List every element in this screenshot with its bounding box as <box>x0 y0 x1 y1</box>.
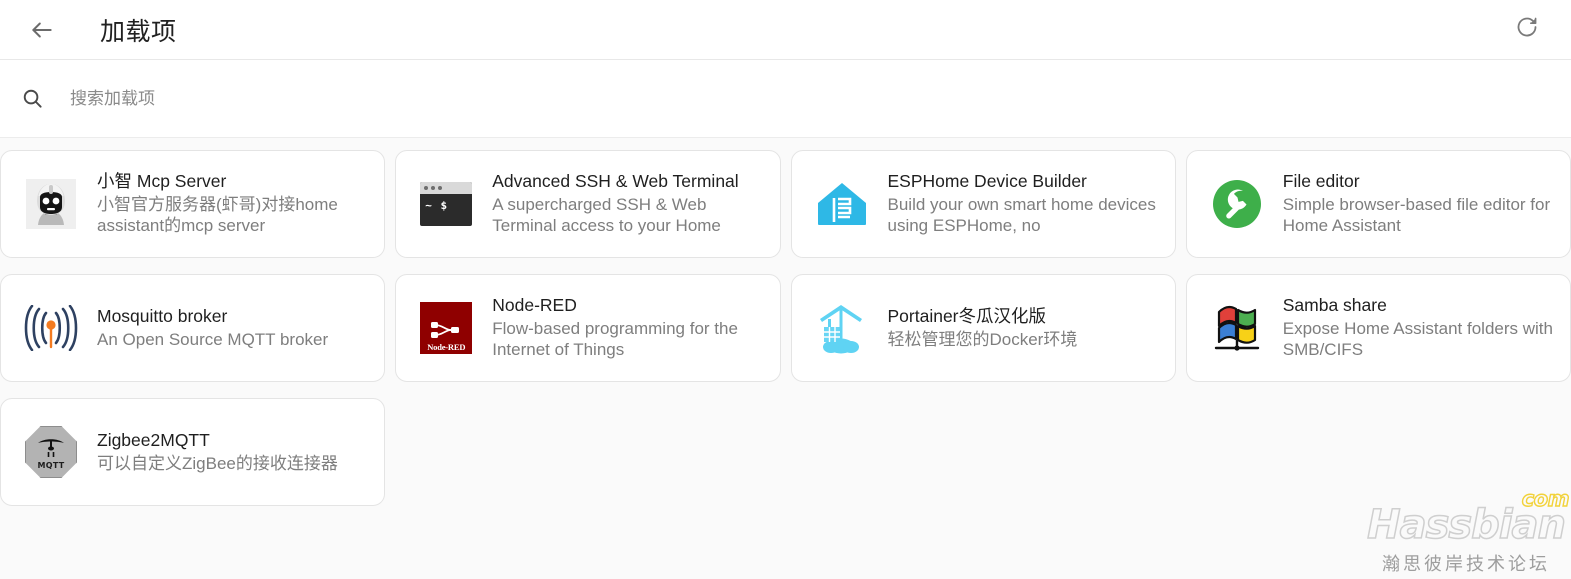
refresh-button[interactable] <box>1505 8 1549 52</box>
windows-network-icon <box>1209 300 1265 356</box>
addons-content: 小智 Mcp Server 小智官方服务器(虾哥)对接home assistan… <box>0 138 1571 578</box>
addon-card-text: File editor Simple browser-based file ed… <box>1283 171 1554 237</box>
terminal-window-shape: ~ $ <box>420 182 472 226</box>
addon-title: Zigbee2MQTT <box>97 430 338 452</box>
addon-card-text: Mosquitto broker An Open Source MQTT bro… <box>97 306 328 350</box>
addon-card-advanced-ssh-web-terminal[interactable]: ~ $ Advanced SSH & Web Terminal A superc… <box>395 150 780 258</box>
addon-card-text: 小智 Mcp Server 小智官方服务器(虾哥)对接home assistan… <box>97 171 368 237</box>
addon-title: ESPHome Device Builder <box>888 171 1159 193</box>
terminal-dot <box>438 186 442 190</box>
addon-description: An Open Source MQTT broker <box>97 329 328 350</box>
page-title: 加载项 <box>100 12 177 48</box>
addon-card-text: ESPHome Device Builder Build your own sm… <box>888 171 1159 237</box>
addon-card-text: Samba share Expose Home Assistant folder… <box>1283 295 1554 361</box>
watermark-brand-text: Hassbian <box>1367 502 1565 548</box>
addon-description: A supercharged SSH & Web Terminal access… <box>492 194 763 237</box>
addon-description: 可以自定义ZigBee的接收连接器 <box>97 453 338 474</box>
addon-card-text: Portainer冬瓜汉化版 轻松管理您的Docker环境 <box>888 306 1078 350</box>
addon-title: Mosquitto broker <box>97 306 328 328</box>
arrow-left-icon <box>29 17 55 43</box>
addon-description: Build your own smart home devices using … <box>888 194 1159 237</box>
addon-card-samba-share[interactable]: Samba share Expose Home Assistant folder… <box>1186 274 1571 382</box>
addon-card-text: Node-RED Flow-based programming for the … <box>492 295 763 361</box>
addon-card-xiaozhi-mcp-server[interactable]: 小智 Mcp Server 小智官方服务器(虾哥)对接home assistan… <box>0 150 385 258</box>
addons-grid: 小智 Mcp Server 小智官方服务器(虾哥)对接home assistan… <box>0 142 1571 506</box>
addon-description: 轻松管理您的Docker环境 <box>888 329 1078 350</box>
portainer-crane-icon <box>814 300 870 356</box>
zigbee-badge-label: MQTT <box>37 461 64 470</box>
addon-card-file-editor[interactable]: File editor Simple browser-based file ed… <box>1186 150 1571 258</box>
esphome-house-icon <box>814 176 870 232</box>
terminal-dot <box>431 186 435 190</box>
wrench-circle-icon <box>1209 176 1265 232</box>
addon-title: Advanced SSH & Web Terminal <box>492 171 763 193</box>
zigbee-octagon-badge: MQTT <box>25 426 77 478</box>
zigbee-mqtt-icon: MQTT <box>23 424 79 480</box>
back-button[interactable] <box>20 8 64 52</box>
watermark-brand: Hassbian com <box>1367 505 1565 545</box>
node-red-badge-label: Node-RED <box>427 342 465 352</box>
robot-head-icon <box>23 176 79 232</box>
addon-title: Portainer冬瓜汉化版 <box>888 306 1078 328</box>
search-input[interactable] <box>68 82 708 116</box>
addon-title: File editor <box>1283 171 1554 193</box>
addon-card-esphome-device-builder[interactable]: ESPHome Device Builder Build your own sm… <box>791 150 1176 258</box>
terminal-icon: ~ $ <box>418 176 474 232</box>
addon-description: Simple browser-based file editor for Hom… <box>1283 194 1554 237</box>
addon-card-mosquitto-broker[interactable]: Mosquitto broker An Open Source MQTT bro… <box>0 274 385 382</box>
refresh-icon <box>1515 15 1539 44</box>
addon-description: Flow-based programming for the Internet … <box>492 318 763 361</box>
addon-title: Node-RED <box>492 295 763 317</box>
addon-card-text: Zigbee2MQTT 可以自定义ZigBee的接收连接器 <box>97 430 338 474</box>
node-red-badge: Node-RED <box>420 302 472 354</box>
watermark: Hassbian com 瀚思彼岸技术论坛 <box>1367 505 1565 576</box>
app-bar: 加载项 <box>0 0 1571 60</box>
addon-description: Expose Home Assistant folders with SMB/C… <box>1283 318 1554 361</box>
addon-card-node-red[interactable]: Node-RED Node-RED Flow-based programming… <box>395 274 780 382</box>
terminal-titlebar <box>420 182 472 194</box>
search-bar[interactable] <box>0 60 1571 138</box>
addon-description: 小智官方服务器(虾哥)对接home assistant的mcp server <box>97 194 368 237</box>
node-red-icon: Node-RED <box>418 300 474 356</box>
addon-card-zigbee2mqtt[interactable]: MQTT Zigbee2MQTT 可以自定义ZigBee的接收连接器 <box>0 398 385 506</box>
watermark-subtitle: 瀚思彼岸技术论坛 <box>1367 550 1565 576</box>
addon-title: Samba share <box>1283 295 1554 317</box>
terminal-prompt: ~ $ <box>420 194 472 212</box>
search-icon <box>21 87 44 110</box>
addon-card-text: Advanced SSH & Web Terminal A supercharg… <box>492 171 763 237</box>
addon-title: 小智 Mcp Server <box>97 171 368 193</box>
terminal-dot <box>424 186 428 190</box>
addon-card-portainer[interactable]: Portainer冬瓜汉化版 轻松管理您的Docker环境 <box>791 274 1176 382</box>
mqtt-broadcast-icon <box>23 300 79 356</box>
